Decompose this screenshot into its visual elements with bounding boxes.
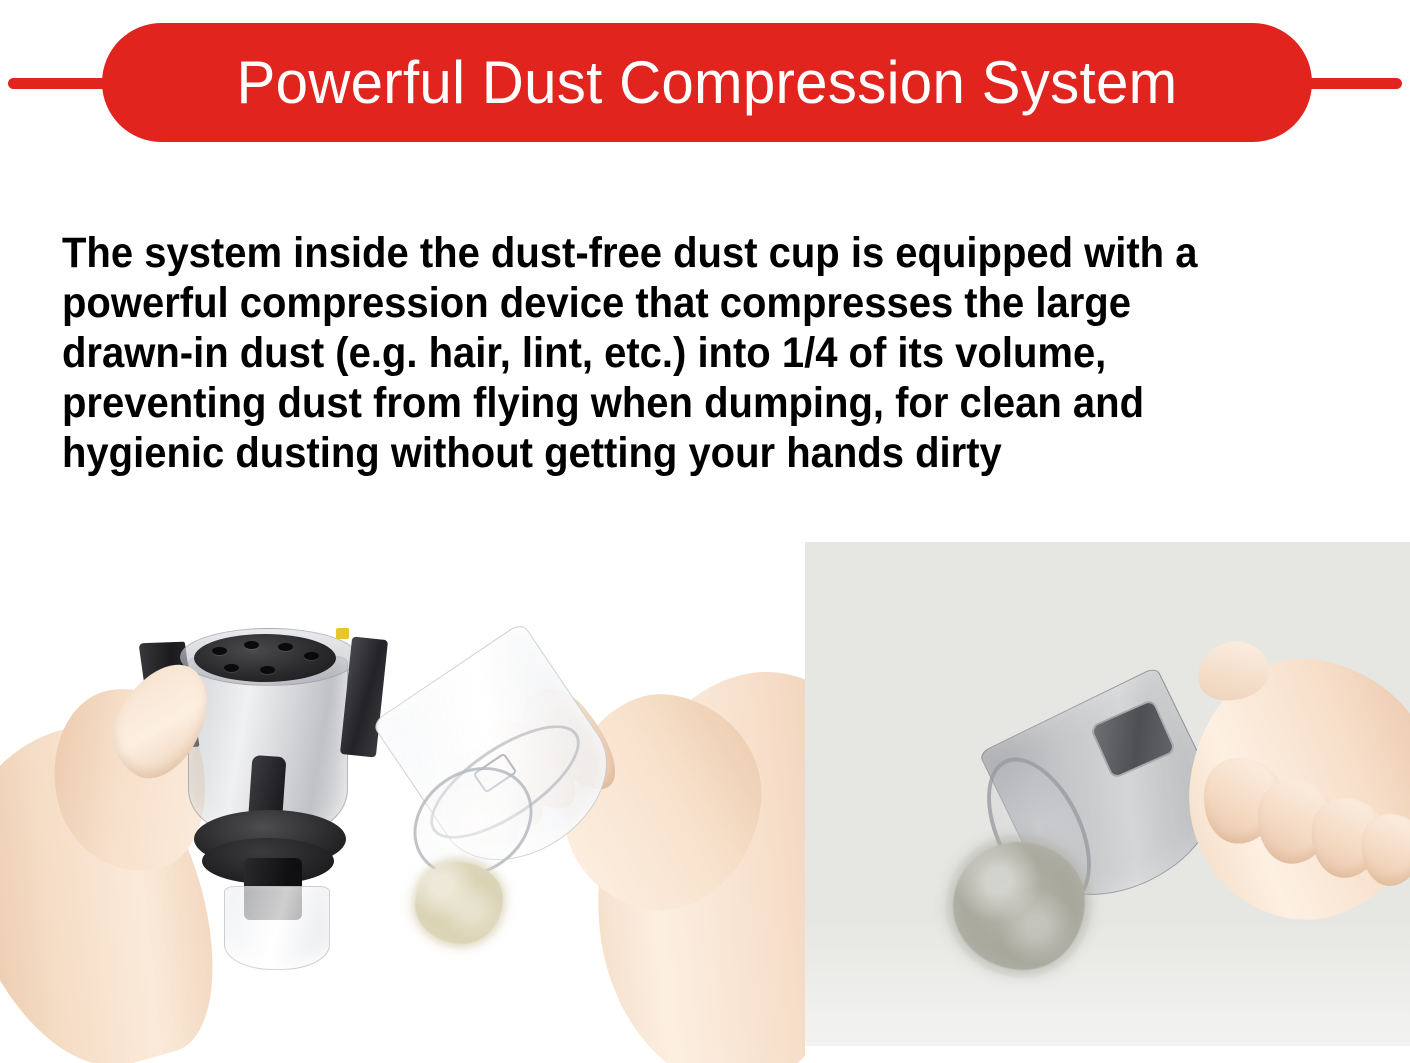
description-paragraph: The system inside the dust-free dust cup… [62, 228, 1243, 478]
beige-dust-clump [415, 862, 503, 944]
cyclone-vent-hole [244, 641, 259, 649]
banner-pill: Powerful Dust Compression System [102, 23, 1312, 142]
cyclone-vent-hole [278, 643, 293, 651]
cyclone-vent-hole [224, 664, 239, 672]
header-banner: Powerful Dust Compression System [0, 0, 1410, 165]
cyclone-filter-assembly [150, 598, 400, 958]
photo-right-floor [805, 926, 1410, 1046]
product-photo-right [805, 542, 1410, 1046]
cyclone-vent-hole [304, 652, 319, 660]
page-title: Powerful Dust Compression System [237, 53, 1178, 113]
cyclone-top-plate [194, 634, 336, 682]
cyclone-vent-hole [212, 647, 227, 655]
cyclone-yellow-tab [336, 628, 349, 639]
transparent-dust-cup [412, 655, 624, 890]
cyclone-vent-hole [260, 666, 275, 674]
cyclone-bottom-clear-cup [224, 886, 330, 970]
product-photo-left [0, 520, 805, 1063]
compressed-gray-dust-ball [953, 842, 1085, 970]
